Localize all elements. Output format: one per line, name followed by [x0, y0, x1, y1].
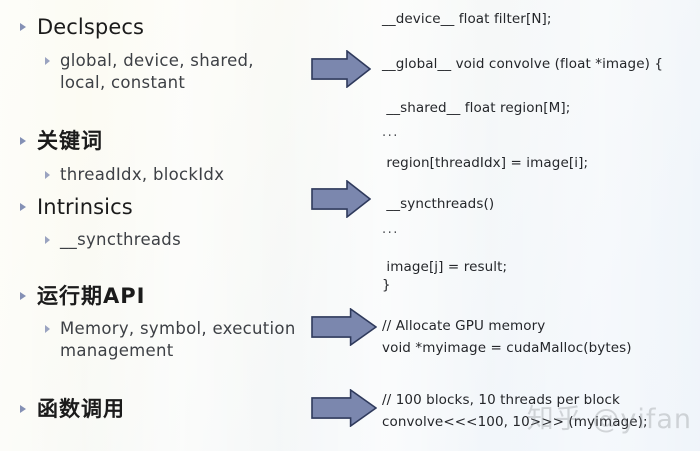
bullet-triangle-icon	[20, 203, 26, 211]
arrow-kernel-launch	[311, 389, 377, 427]
right-arrow-icon	[311, 389, 377, 427]
outline-item-l1-7[interactable]: 运行期API	[20, 283, 320, 310]
code-ellipsis-2: ...	[382, 221, 399, 238]
outline-item-label: Intrinsics	[37, 194, 133, 221]
arrow-keywords	[311, 180, 371, 218]
outline-item-l2-2[interactable]: global, device, shared, local, constant	[45, 50, 295, 94]
outline-item-label: 函数调用	[37, 396, 125, 423]
code-column: __device__ float filter[N];__global__ vo…	[378, 0, 700, 451]
right-arrow-icon	[311, 180, 371, 218]
outline-item-label: threadIdx, blockIdx	[60, 164, 224, 186]
outline-item-label: Memory, symbol, execution management	[60, 318, 310, 362]
right-arrow-icon	[311, 308, 377, 346]
outline-item-l2-4[interactable]: threadIdx, blockIdx	[45, 164, 295, 186]
outline-item-label: __syncthreads	[60, 229, 181, 251]
bullet-triangle-icon	[45, 171, 50, 179]
slide-canvas: Declspecsglobal, device, shared, local, …	[0, 0, 700, 451]
code-comment-alloc: // Allocate GPU memory	[382, 318, 545, 335]
code-comment-launch: // 100 blocks, 10 threads per block	[382, 392, 620, 409]
code-syncthreads: __syncthreads()	[382, 196, 494, 213]
outline-item-l2-6[interactable]: __syncthreads	[45, 229, 295, 251]
bullet-triangle-icon	[45, 236, 50, 244]
bullet-triangle-icon	[20, 137, 26, 145]
bullet-triangle-icon	[20, 23, 26, 31]
outline-column: Declspecsglobal, device, shared, local, …	[0, 0, 330, 451]
code-shared-region: __shared__ float region[M];	[382, 100, 570, 117]
code-kernel-launch: convolve<<<100, 10>>> (myimage);	[382, 414, 648, 431]
arrow-declspecs	[311, 50, 371, 88]
code-ellipsis-1: ...	[382, 124, 399, 141]
bullet-triangle-icon	[20, 292, 26, 300]
outline-item-label: Declspecs	[37, 14, 144, 41]
outline-item-label: 关键词	[37, 128, 103, 155]
code-region-assign: region[threadIdx] = image[i];	[382, 155, 588, 172]
outline-item-l1-9[interactable]: 函数调用	[20, 396, 320, 423]
outline-item-label: 运行期API	[37, 283, 145, 310]
code-image-result: image[j] = result;	[382, 259, 507, 276]
outline-item-l1-1[interactable]: Declspecs	[20, 14, 320, 41]
arrow-runtime-api	[311, 308, 377, 346]
outline-item-l1-3[interactable]: 关键词	[20, 128, 320, 155]
bullet-triangle-icon	[20, 405, 26, 413]
right-arrow-icon	[311, 50, 371, 88]
outline-item-l2-8[interactable]: Memory, symbol, execution management	[45, 318, 310, 362]
code-device-filter: __device__ float filter[N];	[382, 11, 552, 28]
code-cudamalloc: void *myimage = cudaMalloc(bytes)	[382, 340, 632, 357]
outline-item-l1-5[interactable]: Intrinsics	[20, 194, 320, 221]
bullet-triangle-icon	[45, 325, 50, 333]
code-global-convolve: __global__ void convolve (float *image) …	[382, 56, 663, 73]
outline-item-label: global, device, shared, local, constant	[60, 50, 295, 94]
code-close-brace: }	[382, 277, 391, 294]
bullet-triangle-icon	[45, 57, 50, 65]
